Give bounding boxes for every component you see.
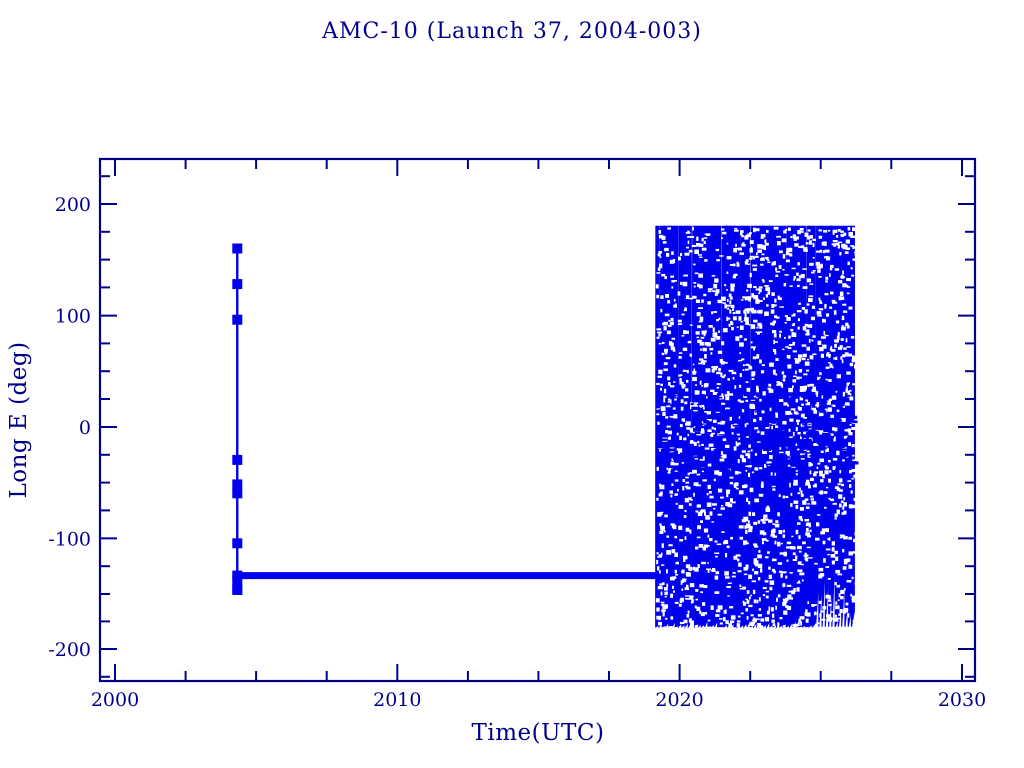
drift-gap	[819, 414, 824, 417]
drift-gap	[775, 541, 777, 545]
drift-gap	[713, 366, 717, 370]
drift-gap	[783, 496, 786, 499]
drift-gap	[754, 558, 757, 563]
drift-density-mark	[714, 449, 717, 451]
drift-gap	[698, 512, 703, 516]
drift-gap	[699, 321, 703, 323]
drift-gap	[685, 486, 688, 488]
drift-gap	[785, 346, 789, 348]
drift-gap	[828, 460, 831, 462]
drift-gap	[828, 600, 831, 602]
drift-gap	[806, 507, 810, 509]
drift-gap	[749, 285, 751, 287]
drift-gap	[793, 624, 796, 626]
drift-gap	[755, 299, 759, 304]
drift-gap	[756, 288, 760, 290]
drift-gap	[707, 562, 709, 564]
drift-gap	[688, 473, 690, 476]
drift-gap	[850, 245, 854, 247]
drift-gap	[741, 244, 745, 247]
drift-gap	[765, 580, 769, 582]
drift-density-mark	[698, 461, 704, 464]
drift-gap	[745, 453, 749, 456]
drift-gap	[852, 596, 856, 601]
drift-gap	[682, 570, 685, 574]
drift-gap	[666, 357, 671, 359]
drift-gap	[800, 386, 804, 389]
drift-gap	[747, 264, 750, 266]
drift-density-mark	[741, 397, 743, 400]
drift-gap	[851, 427, 855, 430]
drift-gap	[803, 373, 807, 375]
drift-gap	[766, 230, 769, 233]
drift-gap	[697, 312, 701, 316]
drift-gap	[687, 236, 691, 238]
drift-gap	[659, 449, 661, 451]
drift-gap	[830, 265, 834, 268]
drift-gap	[832, 396, 837, 400]
drift-gap	[720, 459, 725, 462]
drift-density-mark	[704, 453, 709, 455]
drift-gap	[728, 623, 732, 628]
drift-gap	[828, 407, 832, 411]
drift-density-mark	[841, 446, 845, 448]
drift-gap	[760, 625, 763, 627]
drift-gap	[852, 444, 855, 447]
drift-gap	[786, 260, 790, 263]
drift-gap	[752, 378, 755, 380]
drift-gap	[680, 282, 682, 285]
drift-density-mark	[843, 469, 845, 471]
drift-gap	[802, 579, 804, 581]
drift-gap	[793, 234, 796, 238]
drift-gap	[700, 317, 704, 321]
drift-gap	[842, 590, 845, 593]
drift-gap	[822, 606, 826, 609]
drift-gap	[783, 254, 786, 259]
drift-gap	[665, 627, 669, 631]
drift-gap	[690, 354, 692, 357]
drift-gap	[778, 594, 781, 597]
drift-density-mark	[803, 420, 810, 423]
drift-gap	[761, 484, 764, 488]
drift-gap	[720, 497, 724, 499]
drift-gap	[769, 587, 772, 591]
drift-gap	[750, 248, 753, 252]
drift-gap	[819, 601, 822, 604]
drift-density-mark	[687, 453, 691, 455]
drift-density-mark	[801, 434, 809, 437]
drift-gap	[819, 236, 823, 239]
drift-gap	[849, 551, 853, 555]
drift-gap	[854, 252, 857, 254]
drift-gap	[766, 596, 769, 599]
drift-gap	[816, 522, 819, 526]
drift-gap	[746, 290, 748, 292]
drift-gap	[754, 571, 758, 574]
drift-gap	[702, 238, 704, 241]
drift-gap	[670, 276, 674, 278]
drift-gap	[742, 456, 744, 460]
drift-gap	[848, 613, 850, 618]
drift-gap	[696, 331, 700, 335]
drift-gap	[718, 472, 722, 476]
drift-gap	[697, 525, 701, 529]
drift-density-mark	[774, 419, 777, 420]
drift-gap	[820, 531, 825, 534]
drift-gap	[746, 381, 749, 383]
drift-gap	[745, 530, 747, 534]
drift-gap	[753, 320, 757, 323]
drift-gap	[678, 323, 682, 325]
drift-gap	[741, 299, 744, 300]
drift-gap	[793, 350, 797, 352]
drift-gap	[845, 245, 847, 249]
drift-gap	[679, 626, 681, 628]
drift-gap	[802, 344, 807, 346]
drift-gap	[849, 565, 851, 569]
drift-gap	[823, 558, 826, 563]
drift-gap	[760, 618, 764, 621]
drift-gap	[708, 620, 711, 622]
drift-gap	[664, 605, 666, 609]
drift-gap	[819, 372, 821, 375]
drift-gap	[713, 508, 715, 510]
drift-density-mark	[804, 439, 812, 442]
drift-gap	[797, 569, 802, 572]
drift-gap	[698, 254, 702, 256]
drift-gap	[843, 347, 846, 349]
drift-gap	[668, 398, 670, 400]
drift-gap	[826, 367, 830, 369]
drift-gap	[775, 414, 778, 418]
drift-wrap-segment	[835, 226, 838, 627]
drift-gap	[673, 305, 677, 308]
drift-gap	[734, 483, 736, 486]
drift-gap	[798, 303, 801, 305]
drift-density-mark	[837, 415, 840, 417]
drift-gap	[797, 262, 800, 265]
drift-gap	[839, 296, 842, 300]
drift-density-mark	[802, 411, 811, 413]
drift-gap	[798, 246, 802, 248]
drift-gap	[716, 259, 720, 261]
drift-gap	[659, 493, 663, 496]
drift-gap	[753, 347, 755, 351]
drift-density-mark	[770, 435, 776, 437]
drift-gap	[678, 526, 682, 530]
drift-density-mark	[777, 403, 779, 406]
drift-gap	[763, 297, 765, 300]
drift-gap	[819, 300, 821, 304]
drift-gap	[659, 343, 662, 344]
drift-gap	[750, 273, 752, 277]
drift-gap	[802, 542, 806, 545]
drift-gap	[769, 575, 772, 579]
drift-gap	[730, 537, 733, 540]
drift-gap	[738, 616, 741, 618]
drift-gap	[696, 237, 698, 241]
drift-gap	[748, 473, 750, 477]
drift-density-mark	[657, 446, 665, 448]
drift-gap	[713, 327, 715, 332]
drift-gap	[814, 471, 818, 473]
drift-gap	[841, 501, 844, 504]
drift-gap	[789, 429, 791, 432]
drift-gap	[798, 354, 802, 357]
drift-gap	[740, 233, 743, 235]
drift-gap	[684, 515, 687, 518]
drift-gap	[783, 611, 787, 615]
drift-gap	[779, 334, 781, 338]
drift-gap	[773, 373, 775, 375]
drift-gap	[810, 384, 814, 387]
drift-gap	[807, 329, 810, 334]
drift-density-mark	[699, 438, 706, 440]
drift-gap	[766, 540, 769, 542]
drift-gap	[848, 227, 851, 231]
drift-gap	[769, 607, 771, 612]
drift-gap	[768, 520, 773, 523]
drift-gap	[733, 377, 735, 380]
drift-gap	[695, 273, 699, 275]
drift-gap	[659, 583, 663, 585]
drift-gap	[838, 599, 840, 601]
drift-gap	[656, 383, 660, 385]
drift-density-mark	[811, 395, 817, 398]
drift-gap	[657, 467, 659, 471]
drift-gap	[826, 379, 828, 381]
drift-gap	[826, 566, 830, 568]
data-point-marker	[233, 315, 242, 324]
drift-gap	[800, 231, 803, 233]
drift-gap	[800, 507, 804, 511]
drift-gap	[721, 237, 723, 239]
drift-gap	[751, 622, 755, 624]
drift-gap	[804, 309, 807, 313]
drift-density-mark	[809, 455, 816, 456]
drift-gap	[719, 255, 723, 257]
drift-gap	[722, 454, 727, 458]
drift-gap	[705, 448, 710, 450]
drift-gap	[714, 278, 718, 282]
drift-gap	[767, 262, 770, 264]
drift-gap	[756, 354, 759, 359]
drift-gap	[702, 331, 707, 335]
drift-gap	[806, 524, 811, 527]
drift-gap	[665, 416, 668, 418]
drift-gap	[806, 480, 809, 484]
drift-gap	[671, 251, 674, 255]
drift-gap	[759, 417, 762, 421]
drift-gap	[768, 567, 771, 570]
drift-gap	[805, 612, 808, 616]
drift-gap	[817, 315, 822, 317]
drift-gap	[796, 587, 799, 591]
drift-density-mark	[779, 459, 786, 461]
drift-gap	[673, 407, 676, 409]
drift-gap	[756, 386, 759, 390]
drift-density-mark	[836, 408, 844, 410]
drift-density-mark	[722, 469, 730, 471]
page-title: AMC-10 (Launch 37, 2004-003)	[321, 19, 702, 44]
drift-density-mark	[774, 401, 779, 403]
data-point-marker	[233, 280, 242, 289]
drift-gap	[842, 459, 845, 461]
drift-gap	[840, 609, 843, 613]
drift-gap	[782, 371, 785, 374]
drift-gap	[793, 552, 796, 555]
drift-gap	[686, 572, 690, 575]
drift-gap	[752, 471, 754, 473]
drift-gap	[728, 583, 732, 584]
drift-wrap-segment	[780, 226, 783, 627]
drift-density-mark	[795, 468, 799, 470]
drift-gap	[762, 410, 765, 413]
drift-gap	[754, 599, 757, 603]
drift-gap	[679, 378, 681, 382]
drift-gap	[786, 546, 791, 548]
drift-gap	[725, 576, 730, 579]
drift-gap	[698, 564, 700, 568]
drift-gap	[807, 601, 809, 604]
drift-gap	[783, 378, 786, 381]
drift-gap	[703, 294, 706, 296]
y-tick-label: 200	[55, 194, 91, 216]
drift-density-mark	[687, 394, 693, 396]
drift-density-mark	[784, 454, 786, 457]
drift-gap	[730, 297, 733, 300]
drift-gap	[730, 321, 733, 323]
drift-gap	[735, 471, 739, 475]
drift-gap	[661, 609, 665, 612]
drift-gap	[845, 352, 849, 356]
drift-gap	[774, 333, 777, 337]
drift-density-mark	[790, 463, 795, 466]
drift-gap	[836, 391, 838, 393]
drift-gap	[844, 559, 849, 562]
drift-gap	[684, 396, 689, 398]
drift-gap	[768, 388, 772, 390]
drift-gap	[729, 477, 733, 479]
drift-gap	[687, 370, 689, 373]
drift-density-mark	[680, 394, 683, 396]
drift-gap	[782, 349, 784, 350]
drift-gap	[797, 285, 800, 287]
drift-gap	[835, 557, 838, 561]
drift-gap	[779, 494, 781, 497]
drift-gap	[707, 503, 712, 507]
drift-gap	[729, 310, 731, 314]
drift-gap	[813, 257, 815, 259]
drift-gap	[701, 299, 704, 302]
drift-gap	[712, 503, 717, 506]
drift-gap	[748, 501, 750, 504]
drift-gap	[831, 554, 836, 558]
drift-gap	[807, 347, 811, 351]
drift-gap	[853, 551, 856, 554]
drift-gap	[684, 348, 688, 351]
drift-density-mark	[673, 430, 681, 433]
drift-gap	[825, 277, 828, 280]
drift-gap	[817, 463, 820, 465]
drift-gap	[662, 543, 664, 548]
drift-gap	[742, 587, 746, 590]
drift-gap	[656, 284, 659, 288]
drift-gap	[679, 436, 682, 440]
drift-gap	[735, 244, 737, 247]
drift-density-mark	[668, 449, 677, 451]
drift-gap	[679, 604, 682, 607]
drift-gap	[835, 517, 837, 519]
drift-density-mark	[761, 459, 767, 461]
drift-gap	[789, 597, 793, 599]
drift-gap	[778, 382, 783, 386]
drift-gap	[671, 483, 673, 486]
drift-gap	[674, 299, 676, 302]
drift-gap	[755, 453, 757, 456]
drift-gap	[802, 358, 806, 361]
drift-gap	[847, 580, 852, 583]
drift-wrap-segment	[838, 226, 841, 627]
drift-gap	[836, 321, 839, 324]
drift-gap	[771, 472, 773, 475]
drift-gap	[838, 332, 840, 336]
drift-gap	[765, 556, 769, 558]
drift-gap	[754, 546, 758, 548]
drift-gap	[692, 377, 697, 381]
drift-gap	[726, 289, 728, 291]
drift-gap	[735, 248, 740, 250]
drift-gap	[800, 621, 802, 626]
data-point-marker	[233, 244, 242, 253]
drift-gap	[849, 397, 853, 401]
drift-gap	[682, 486, 684, 490]
drift-gap	[842, 304, 846, 306]
drift-gap	[810, 235, 813, 239]
drift-gap	[808, 463, 813, 466]
drift-gap	[716, 571, 720, 574]
drift-gap	[825, 250, 830, 253]
drift-gap	[825, 293, 829, 295]
y-tick-label: 100	[55, 306, 91, 328]
drift-gap	[688, 241, 690, 244]
data-point-marker	[233, 586, 242, 595]
drift-density-mark	[755, 447, 757, 450]
drift-gap	[846, 278, 851, 281]
drift-gap	[849, 484, 851, 488]
drift-gap	[695, 384, 697, 386]
drift-gap	[813, 270, 816, 272]
drift-gap	[684, 579, 687, 581]
drift-gap	[835, 582, 837, 585]
drift-density-mark	[663, 443, 671, 445]
drift-density-mark	[799, 440, 803, 442]
drift-gap	[706, 569, 711, 571]
drift-gap	[852, 227, 856, 231]
drift-gap	[833, 503, 837, 505]
drift-gap	[849, 432, 853, 435]
drift-gap	[784, 274, 788, 276]
drift-gap	[704, 411, 708, 413]
drift-gap	[752, 512, 755, 516]
drift-gap	[753, 257, 755, 259]
drift-density-mark	[846, 468, 851, 470]
drift-gap	[725, 553, 727, 557]
drift-gap	[828, 362, 831, 363]
drift-gap	[701, 562, 706, 564]
drift-gap	[739, 490, 744, 494]
